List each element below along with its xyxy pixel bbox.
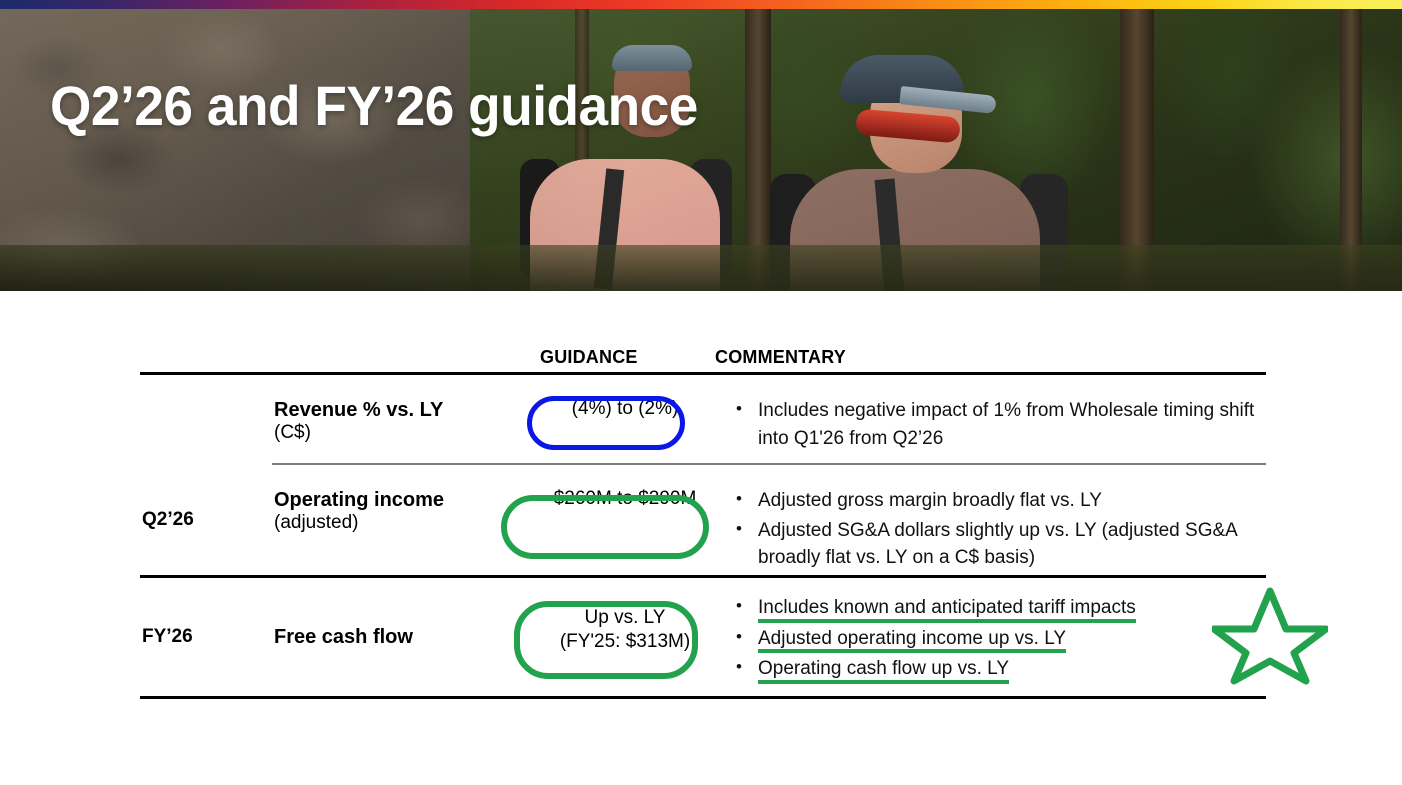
- bullet-text: Adjusted operating income up vs. LY: [758, 625, 1066, 654]
- list-item: • Adjusted gross margin broadly flat vs.…: [736, 487, 1266, 515]
- metric-name: Operating income: [274, 489, 514, 512]
- row-metric: Operating income (adjusted): [274, 465, 514, 575]
- table-bottom-rule: [140, 696, 1266, 699]
- hero-photo: [0, 9, 1402, 291]
- row-commentary: • Includes known and anticipated tariff …: [736, 578, 1266, 696]
- bullet-icon: •: [736, 517, 758, 572]
- row-metric: Free cash flow: [274, 578, 514, 696]
- table-row: Q2’26 Operating income (adjusted) $260M …: [140, 465, 1266, 575]
- list-item: • Includes known and anticipated tariff …: [736, 594, 1266, 623]
- bullet-icon: •: [736, 655, 758, 684]
- list-item: • Adjusted operating income up vs. LY: [736, 625, 1266, 654]
- annotation-star-icon: [1212, 585, 1328, 685]
- bullet-icon: •: [736, 487, 758, 515]
- slide-footer: Q1'26 EARNINGS 19: [0, 705, 1402, 785]
- column-header-commentary: COMMENTARY: [715, 347, 846, 368]
- bullet-text: Includes known and anticipated tariff im…: [758, 594, 1136, 623]
- hero-overlay: [0, 9, 1402, 291]
- guidance-value: (4%) to (2%): [514, 397, 736, 421]
- table-row: FY’26 Free cash flow Up vs. LY (FY'25: $…: [140, 578, 1266, 696]
- bullet-icon: •: [736, 397, 758, 452]
- row-period-label: FY’26: [140, 578, 274, 696]
- metric-subtext: (adjusted): [274, 512, 514, 535]
- bullet-text: Adjusted SG&A dollars slightly up vs. LY…: [758, 517, 1266, 572]
- bullet-icon: •: [736, 594, 758, 623]
- row-guidance: Up vs. LY (FY'25: $313M): [514, 578, 736, 696]
- guidance-table: GUIDANCE COMMENTARY Revenue % vs. LY (C$…: [140, 336, 1266, 699]
- metric-subtext: (C$): [274, 422, 514, 445]
- guidance-value-secondary: (FY'25: $313M): [514, 630, 736, 654]
- row-commentary: • Includes negative impact of 1% from Wh…: [736, 375, 1266, 463]
- bullet-text: Operating cash flow up vs. LY: [758, 655, 1009, 684]
- slide: Q2’26 and FY’26 guidance GUIDANCE COMMEN…: [0, 0, 1402, 785]
- row-metric: Revenue % vs. LY (C$): [274, 375, 514, 463]
- row-guidance: $260M to $290M: [514, 465, 736, 575]
- table-row: Revenue % vs. LY (C$) (4%) to (2%) • Inc…: [140, 375, 1266, 463]
- row-guidance: (4%) to (2%): [514, 375, 736, 463]
- bullet-text: Adjusted gross margin broadly flat vs. L…: [758, 487, 1102, 515]
- table-header-row: GUIDANCE COMMENTARY: [140, 336, 1266, 372]
- row-period-label: [140, 375, 274, 463]
- brand-gradient-bar: [0, 0, 1402, 9]
- metric-name: Free cash flow: [274, 626, 413, 649]
- guidance-value: $260M to $290M: [514, 487, 736, 511]
- list-item: • Includes negative impact of 1% from Wh…: [736, 397, 1266, 452]
- guidance-value: Up vs. LY: [514, 606, 736, 630]
- row-commentary: • Adjusted gross margin broadly flat vs.…: [736, 465, 1266, 575]
- list-item: • Operating cash flow up vs. LY: [736, 655, 1266, 684]
- bullet-icon: •: [736, 625, 758, 654]
- column-header-guidance: GUIDANCE: [540, 347, 638, 368]
- list-item: • Adjusted SG&A dollars slightly up vs. …: [736, 517, 1266, 572]
- bullet-text: Includes negative impact of 1% from Whol…: [758, 397, 1266, 452]
- hero-image: Q2’26 and FY’26 guidance: [0, 9, 1402, 291]
- row-period-label: Q2’26: [140, 465, 274, 575]
- page-title: Q2’26 and FY’26 guidance: [50, 73, 698, 138]
- metric-name: Revenue % vs. LY: [274, 399, 514, 422]
